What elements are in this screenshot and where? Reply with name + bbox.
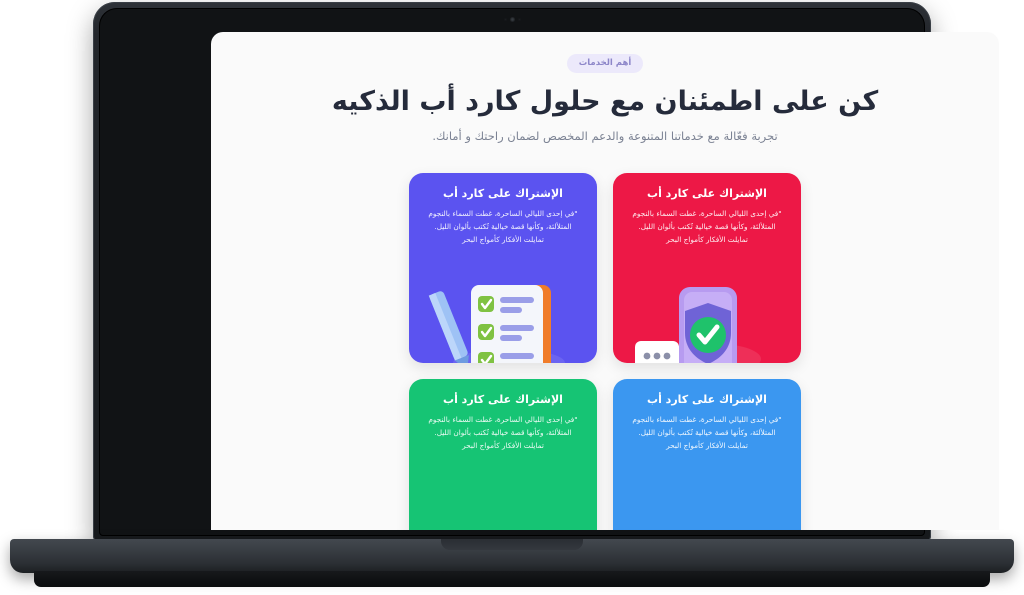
service-card-title: الإشتراك على كارد أب <box>425 393 581 408</box>
screenshot-stage: أهم الخدمات كن على اطمئنان مع حلول كارد … <box>0 0 1024 595</box>
service-card-description: "في إحدى الليالي الساحرة، غطت السماء بال… <box>425 414 581 452</box>
service-card-description: "في إحدى الليالي الساحرة، غطت السماء بال… <box>629 208 785 246</box>
webcam-indicator-dot <box>504 18 507 21</box>
service-card-subscription-blue[interactable]: الإشتراك على كارد أب "في إحدى الليالي ال… <box>613 379 801 530</box>
webcam-icon <box>452 10 572 28</box>
service-card-title: الإشتراك على كارد أب <box>629 393 785 408</box>
cash-money-icon <box>613 485 801 530</box>
services-card-grid: الإشتراك على كارد أب "في إحدى الليالي ال… <box>409 173 801 530</box>
service-card-subscription-green[interactable]: الإشتراك على كارد أب "في إحدى الليالي ال… <box>409 379 597 530</box>
laptop-lid: أهم الخدمات كن على اطمئنان مع حلول كارد … <box>93 2 931 542</box>
service-card-subscription-purple[interactable]: الإشتراك على كارد أب "في إحدى الليالي ال… <box>409 173 597 363</box>
page-title: كن على اطمئنان مع حلول كارد أب الذكيه <box>245 84 965 119</box>
clipboard-checklist-pen-icon <box>409 279 597 363</box>
service-card-title: الإشتراك على كارد أب <box>425 187 581 202</box>
webcam-sensor-dot <box>518 18 521 21</box>
service-card-description: "في إحدى الليالي الساحرة، غطت السماء بال… <box>425 208 581 246</box>
laptop-base-notch <box>441 539 583 550</box>
webcam-lens-dot <box>510 17 515 22</box>
service-card-subscription-red[interactable]: الإشتراك على كارد أب "في إحدى الليالي ال… <box>613 173 801 363</box>
laptop-device-mockup: أهم الخدمات كن على اطمئنان مع حلول كارد … <box>0 0 1024 595</box>
section-eyebrow-badge: أهم الخدمات <box>567 54 644 73</box>
page-subtitle: تجربة فعّالة مع خدماتنا المتنوعة والدعم … <box>245 128 965 145</box>
laptop-screen: أهم الخدمات كن على اطمئنان مع حلول كارد … <box>211 32 999 530</box>
laptop-base-deck <box>10 539 1014 573</box>
laptop-foot-shadow <box>34 571 990 587</box>
service-card-description: "في إحدى الليالي الساحرة، غطت السماء بال… <box>629 414 785 452</box>
webpage-content: أهم الخدمات كن على اطمئنان مع حلول كارد … <box>211 32 999 530</box>
safe-vault-coin-icon <box>409 485 597 530</box>
service-card-title: الإشتراك على كارد أب <box>629 187 785 202</box>
phone-shield-check-icon <box>613 279 801 363</box>
